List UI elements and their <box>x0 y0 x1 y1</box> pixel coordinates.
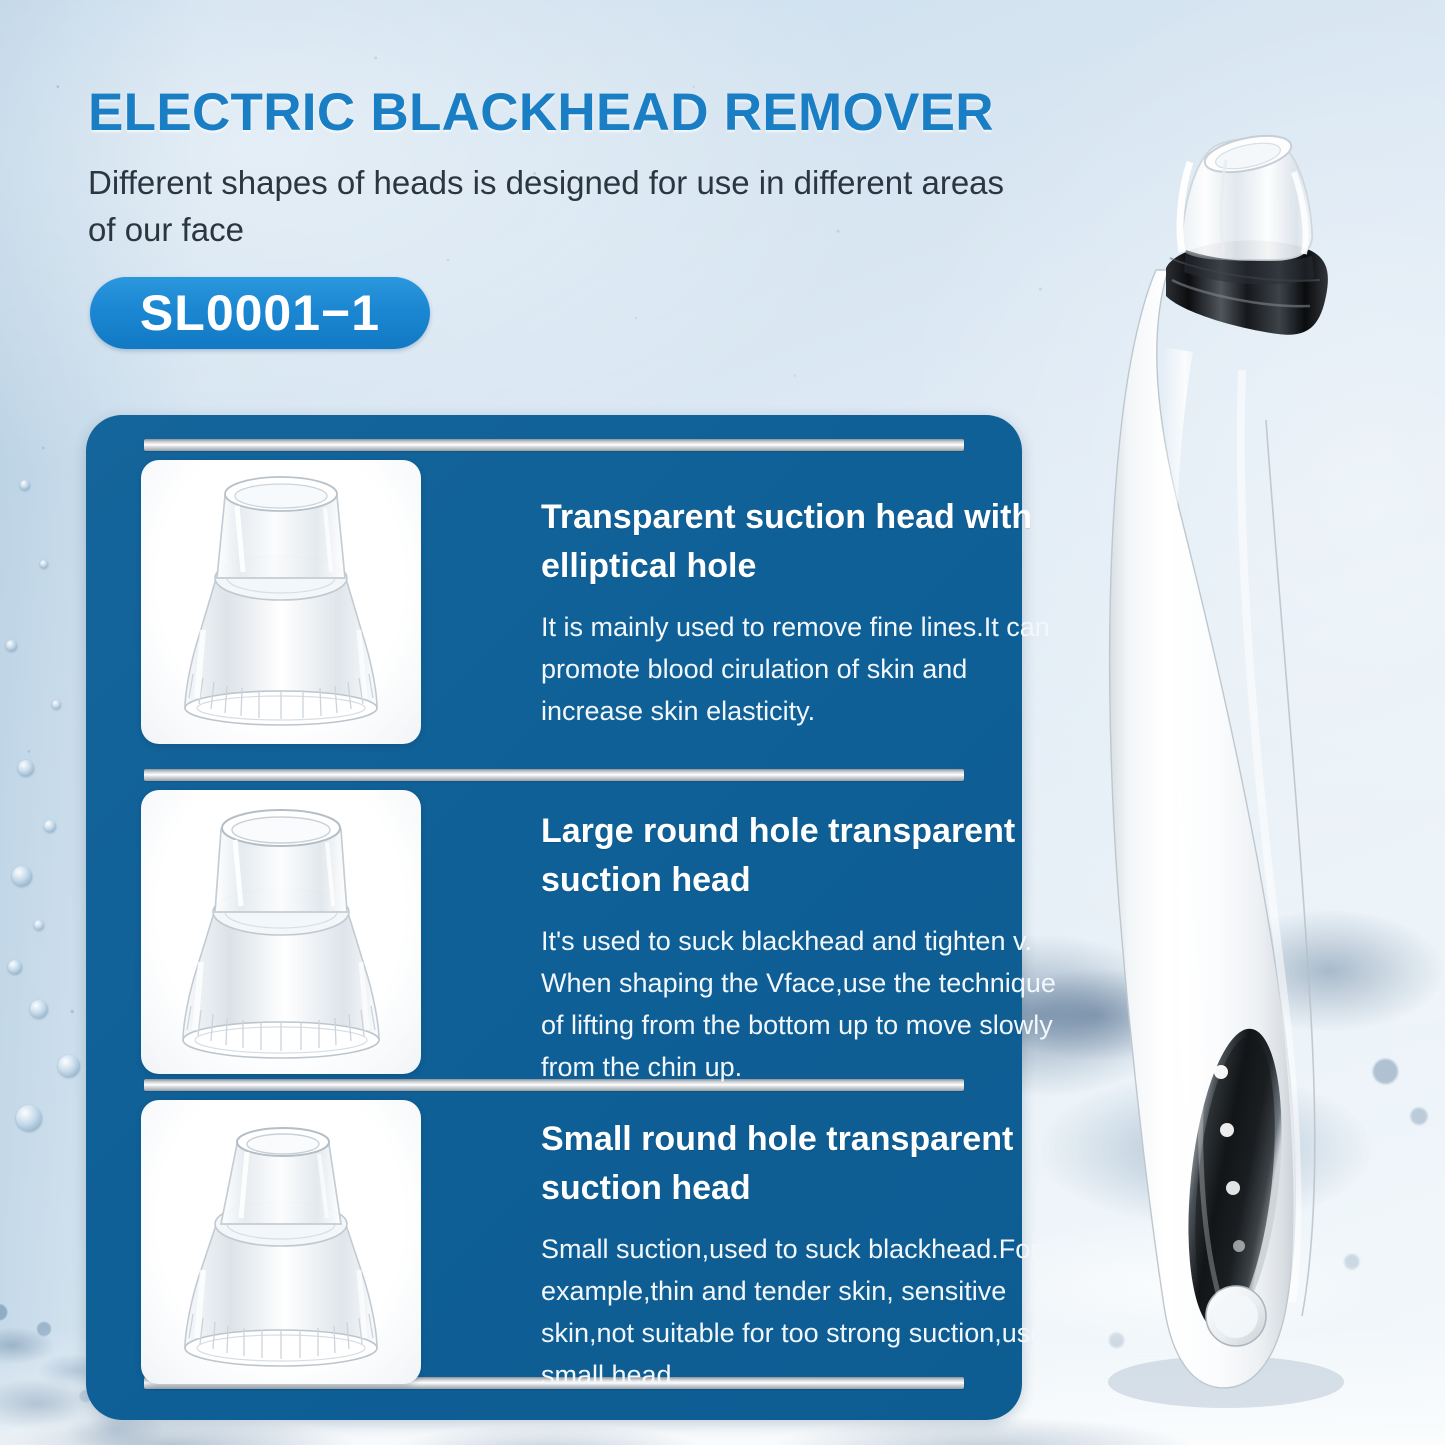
features-panel: Transparent suction head with elliptical… <box>86 415 1022 1420</box>
divider-1 <box>144 769 964 781</box>
water-droplet <box>20 480 30 490</box>
product-infographic: ELECTRIC BLACKHEAD REMOVER Different sha… <box>0 0 1445 1445</box>
feature-title-2: Small round hole transparent suction hea… <box>541 1115 1061 1214</box>
led-indicator <box>1220 1123 1234 1137</box>
feature-thumb-1 <box>141 790 421 1074</box>
blackhead-remover-device <box>1030 120 1445 1445</box>
feature-thumb-2 <box>141 1100 421 1384</box>
divider-top <box>144 439 964 451</box>
water-droplet <box>34 920 44 930</box>
feature-title-1: Large round hole transparent suction hea… <box>541 807 1061 906</box>
model-badge-label: SL0001−1 <box>140 288 380 338</box>
led-indicator <box>1226 1181 1240 1195</box>
feature-desc-2: Small suction,used to suck blackhead.For… <box>541 1228 1061 1396</box>
feature-thumb-0 <box>141 460 421 744</box>
led-indicator <box>1214 1065 1228 1079</box>
feature-desc-1: It's used to suck blackhead and tighten … <box>541 920 1061 1088</box>
feature-text-1: Large round hole transparent suction hea… <box>541 807 1061 1088</box>
feature-desc-0: It is mainly used to remove fine lines.I… <box>541 606 1061 732</box>
elliptical-hole-suction-head-icon <box>141 460 421 744</box>
water-droplet <box>6 640 17 651</box>
water-droplet <box>44 820 56 832</box>
feature-title-0: Transparent suction head with elliptical… <box>541 493 1061 592</box>
water-droplet <box>8 960 22 974</box>
water-droplet <box>30 1000 48 1018</box>
water-droplet <box>52 700 61 709</box>
model-badge: SL0001−1 <box>90 277 430 349</box>
water-droplet <box>18 760 34 776</box>
water-droplet <box>40 560 48 568</box>
feature-text-2: Small round hole transparent suction hea… <box>541 1115 1061 1396</box>
large-round-hole-suction-head-icon <box>141 790 421 1074</box>
feature-text-0: Transparent suction head with elliptical… <box>541 493 1061 732</box>
small-round-hole-suction-head-icon <box>141 1100 421 1384</box>
page-title: ELECTRIC BLACKHEAD REMOVER <box>88 82 994 143</box>
led-indicator <box>1233 1240 1245 1252</box>
water-droplet <box>12 866 32 886</box>
device-illustration <box>1030 120 1445 1445</box>
page-subtitle: Different shapes of heads is designed fo… <box>88 160 1028 254</box>
